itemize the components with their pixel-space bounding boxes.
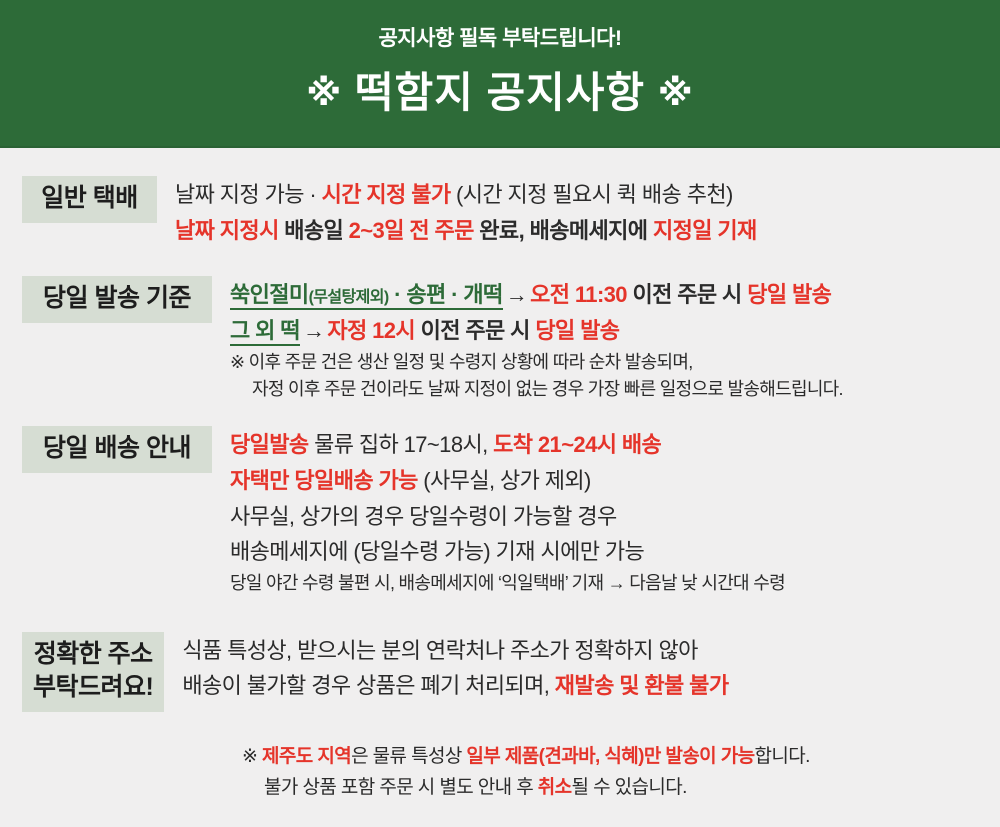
section-accurate-address: 정확한 주소 부탁드려요! 식품 특성상, 받으시는 분의 연락처나 주소가 정… (14, 632, 986, 713)
text-segment: 완료, 배송메세지에 (474, 218, 653, 243)
reference-mark-icon: ※ (242, 746, 262, 767)
text-segment: 물류 집하 17~18시, (309, 432, 494, 457)
text-segment-emphasis: 자정 12시 (327, 318, 415, 343)
text-segment-emphasis: 제주도 지역 (262, 746, 351, 767)
text-segment: · 송편 · 개떡 (389, 282, 503, 307)
text-segment-emphasis: 당일 발송 (747, 282, 831, 307)
line-delivery-message-required: 배송메세지에 (당일수령 가능) 기재 시에만 가능 (230, 534, 986, 570)
text-segment: 배송일 (279, 218, 349, 243)
text-segment-emphasis: 자택만 당일배송 가능 (230, 468, 418, 493)
line-jeju-limited-products: ※ 제주도 지역은 물류 특성상 일부 제품(견과바, 식혜)만 발송이 가능합… (242, 742, 986, 772)
section-label-line: 부탁드려요! (33, 671, 153, 705)
text-segment: 될 수 있습니다. (572, 777, 687, 798)
text-segment: 이전 주문 시 (415, 318, 535, 343)
section-body-sameday-criteria: 쑥인절미(무설탕제외) · 송편 · 개떡→오전 11:30 이전 주문 시 당… (230, 276, 986, 404)
line-date-designation: 날짜 지정 가능 · 시간 지정 불가 (시간 지정 필요시 퀵 배송 추천) (175, 177, 986, 213)
section-label-line: 정확한 주소 (33, 638, 153, 672)
line-note-no-date-specified: 자정 이후 주문 건이라도 날짜 지정이 없는 경우 가장 빠른 일정으로 발송… (230, 376, 986, 404)
text-segment-emphasis: 일부 제품(견과바, 식혜)만 발송이 가능 (466, 746, 754, 767)
text-segment-exception: (무설탕제외) (309, 289, 389, 306)
page-title: ※ 떡함지 공지사항 ※ (0, 67, 1000, 120)
text-segment: 은 물류 특성상 (351, 746, 466, 767)
page-header: 공지사항 필독 부탁드립니다! ※ 떡함지 공지사항 ※ (0, 0, 1000, 148)
text-segment-emphasis: 날짜 지정시 (175, 218, 279, 243)
section-general-delivery: 일반 택배 날짜 지정 가능 · 시간 지정 불가 (시간 지정 필요시 퀵 배… (14, 176, 986, 248)
text-segment: 합니다. (754, 746, 809, 767)
section-sameday-delivery-info: 당일 배송 안내 당일발송 물류 집하 17~18시, 도착 21~24시 배송… (14, 426, 986, 597)
text-segment-product-other: 그 외 떡 (230, 318, 300, 346)
asterisk-left-icon: ※ (306, 72, 342, 113)
text-segment-emphasis: 시간 지정 불가 (322, 182, 451, 207)
notice-content: 일반 택배 날짜 지정 가능 · 시간 지정 불가 (시간 지정 필요시 퀵 배… (0, 176, 1000, 803)
text-segment-product-list: 쑥인절미(무설탕제외) · 송편 · 개떡 (230, 282, 503, 310)
line-food-characteristic: 식품 특성상, 받으시는 분의 연락처나 주소가 정확하지 않아 (182, 633, 986, 669)
section-body-sameday-delivery: 당일발송 물류 집하 17~18시, 도착 21~24시 배송 자택만 당일배송… (230, 426, 986, 597)
text-segment: 날짜 지정 가능 · (175, 182, 322, 207)
text-segment-emphasis: 당일발송 (230, 432, 309, 457)
section-label-sameday-delivery: 당일 배송 안내 (22, 426, 212, 473)
footnote-jeju-notice: ※ 제주도 지역은 물류 특성상 일부 제품(견과바, 식혜)만 발송이 가능합… (14, 742, 986, 803)
line-disposal-no-refund: 배송이 불가할 경우 상품은 폐기 처리되며, 재발송 및 환불 불가 (182, 668, 986, 704)
section-label-line: 당일 발송 기준 (33, 282, 201, 316)
text-segment-emphasis: 도착 21~24시 배송 (493, 432, 661, 457)
line-home-only-delivery: 자택만 당일배송 가능 (사무실, 상가 제외) (230, 463, 986, 499)
asterisk-right-icon: ※ (658, 72, 694, 113)
text-segment: (시간 지정 필요시 퀵 배송 추천) (451, 182, 733, 207)
section-label-accurate-address: 정확한 주소 부탁드려요! (22, 632, 164, 713)
text-segment-emphasis: 지정일 기재 (653, 218, 757, 243)
section-sameday-shipping-criteria: 당일 발송 기준 쑥인절미(무설탕제외) · 송편 · 개떡→오전 11:30 … (14, 276, 986, 404)
header-kicker: 공지사항 필독 부탁드립니다! (0, 26, 1000, 51)
section-label-line: 일반 택배 (33, 182, 146, 216)
section-body-accurate-address: 식품 특성상, 받으시는 분의 연락처나 주소가 정확하지 않아 배송이 불가할… (182, 632, 986, 704)
section-body-general-delivery: 날짜 지정 가능 · 시간 지정 불가 (시간 지정 필요시 퀵 배송 추천) … (175, 176, 986, 248)
section-label-sameday-criteria: 당일 발송 기준 (22, 276, 212, 323)
line-other-rice-cakes-midnight: 그 외 떡→자정 12시 이전 주문 시 당일 발송 (230, 313, 986, 349)
text-segment: 이전 주문 시 (627, 282, 747, 307)
text-segment-emphasis: 취소 (538, 777, 572, 798)
line-pickup-arrival-time: 당일발송 물류 집하 17~18시, 도착 21~24시 배송 (230, 427, 986, 463)
text-segment-emphasis: 2~3일 전 주문 (349, 218, 474, 243)
text-segment-emphasis: 당일 발송 (535, 318, 619, 343)
text-segment-emphasis: 재발송 및 환불 불가 (555, 673, 729, 698)
line-note-next-day-delivery: 당일 야간 수령 불편 시, 배송메세지에 ‘익일택배’ 기재 → 다음날 낮 … (230, 570, 986, 598)
text-segment: (사무실, 상가 제외) (418, 468, 591, 493)
arrow-icon: → (300, 318, 327, 343)
text-segment: 불가 상품 포함 주문 시 별도 안내 후 (264, 777, 538, 798)
section-label-line: 당일 배송 안내 (33, 432, 201, 466)
line-date-order-rule: 날짜 지정시 배송일 2~3일 전 주문 완료, 배송메세지에 지정일 기재 (175, 213, 986, 249)
line-office-store-case: 사무실, 상가의 경우 당일수령이 가능할 경우 (230, 499, 986, 535)
line-note-sequential-shipping: ※ 이후 주문 건은 생산 일정 및 수령지 상황에 따라 순차 발송되며, (230, 349, 986, 377)
line-jeju-cancellation: 불가 상품 포함 주문 시 별도 안내 후 취소될 수 있습니다. (242, 773, 986, 803)
text-segment: 쑥인절미 (230, 282, 309, 307)
page-title-text: 떡함지 공지사항 (355, 69, 645, 116)
text-segment: 배송이 불가할 경우 상품은 폐기 처리되며, (182, 673, 554, 698)
section-label-general-delivery: 일반 택배 (22, 176, 157, 223)
arrow-icon: → (503, 282, 530, 307)
line-rice-cake-types-1130: 쑥인절미(무설탕제외) · 송편 · 개떡→오전 11:30 이전 주문 시 당… (230, 277, 986, 313)
text-segment-emphasis: 오전 11:30 (530, 282, 627, 307)
